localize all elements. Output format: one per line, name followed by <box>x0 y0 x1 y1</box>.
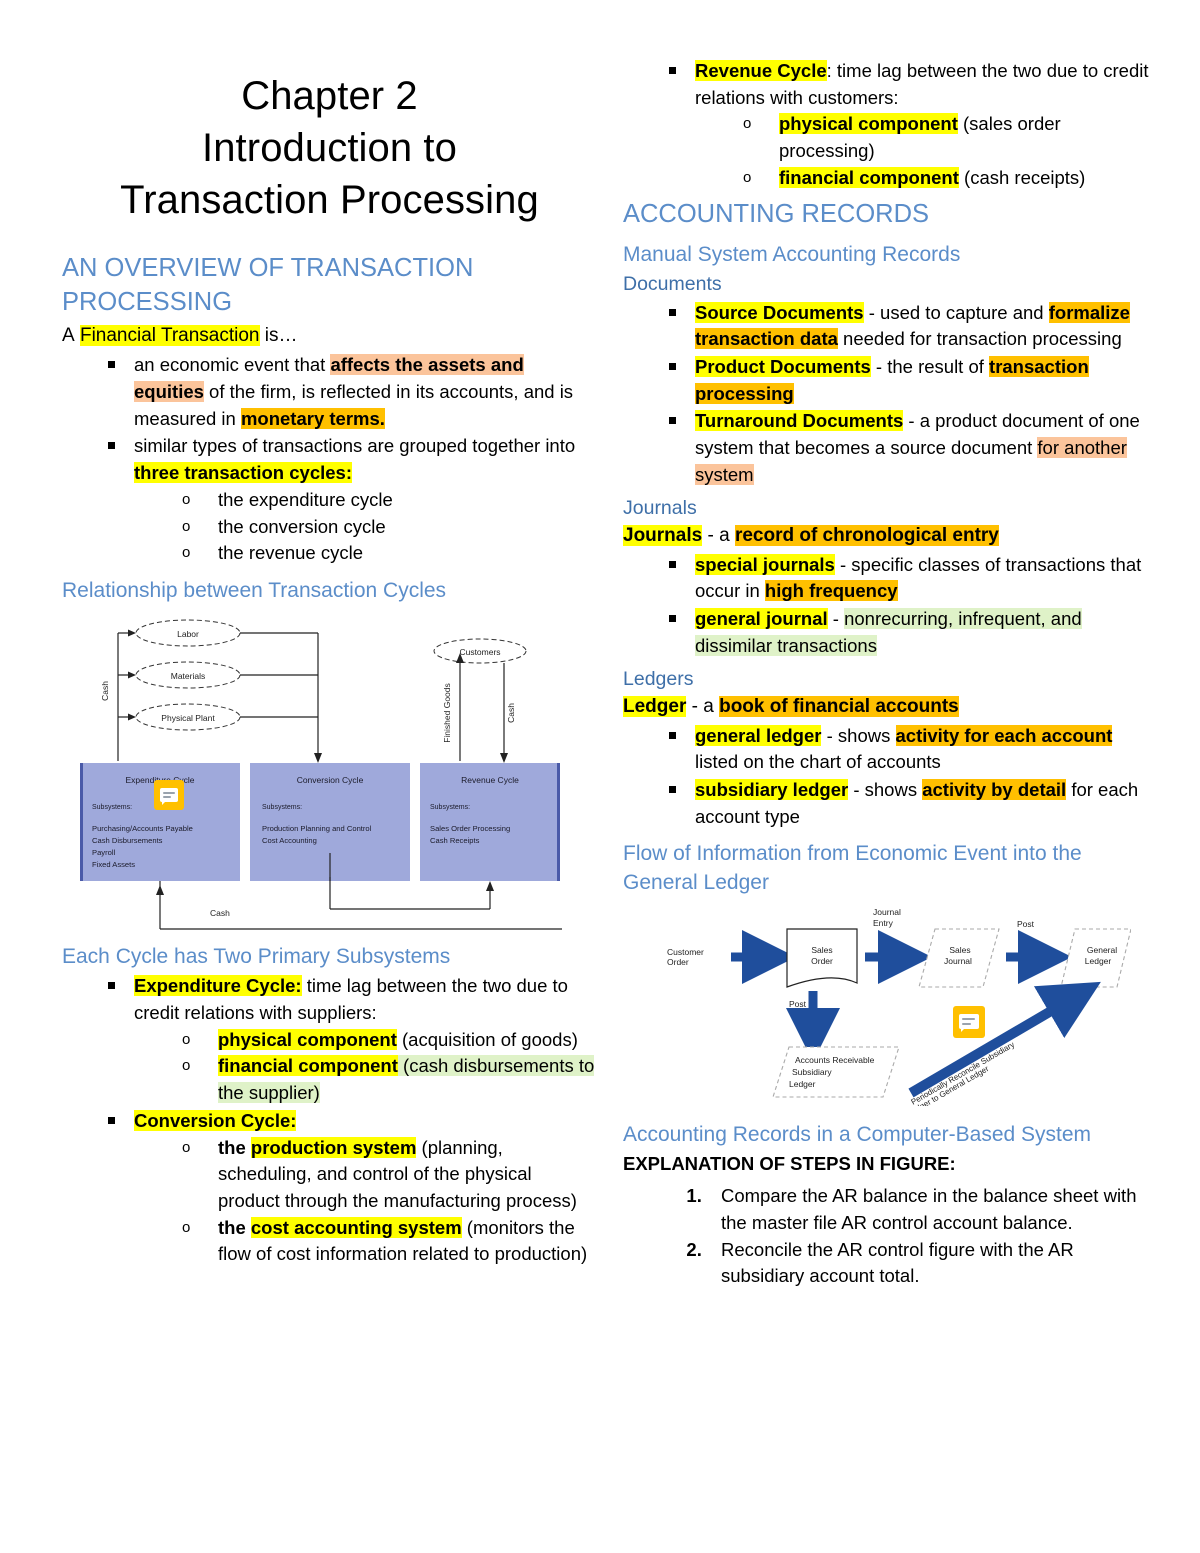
journals-definition: Journals - a record of chronological ent… <box>623 523 1158 550</box>
overview-sub-item-1-1: the conversion cycle <box>182 514 597 541</box>
cycle-bullet-list: Expenditure Cycle: time lag between the … <box>62 973 597 1268</box>
journal-item-0-run-0: special journals <box>695 554 835 575</box>
oval-materials-label: Materials <box>171 671 205 681</box>
title-line-1: Chapter 2 <box>62 70 597 122</box>
heading-manual-system: Manual System Accounting Records <box>623 241 1158 269</box>
heading-explanation-steps: EXPLANATION OF STEPS IN FIGURE: <box>623 1151 1158 1177</box>
overview-bullet-0-run-3: monetary terms. <box>241 408 385 429</box>
ledger-definition-run-0: Ledger <box>623 696 686 717</box>
flow-label-journal-entry-line1: Journal <box>873 907 901 917</box>
cycle-bullet-1: Conversion Cycle:the production system (… <box>104 1108 597 1268</box>
edge-label-cash-right: Cash <box>506 703 516 723</box>
document-item-1: Product Documents - the result of transa… <box>665 354 1158 407</box>
overview-bullet-1: similar types of transactions are groupe… <box>104 433 597 567</box>
box-expenditure-item-3: Fixed Assets <box>92 860 135 869</box>
cycle-sub-item-1-0-run-0: the <box>218 1137 251 1158</box>
journal-item-0-run-2: high frequency <box>765 580 898 601</box>
journal-item-1: general journal - nonrecurring, infreque… <box>665 606 1158 659</box>
comment-bubble-glyph <box>959 1014 979 1029</box>
oval-physical-plant-label: Physical Plant <box>161 713 215 723</box>
box-conversion-title: Conversion Cycle <box>297 775 364 785</box>
box-revenue-title: Revenue Cycle <box>461 775 519 785</box>
documents-list: Source Documents - used to capture and f… <box>623 300 1158 489</box>
flow-node-ar-line2: Subsidiary <box>792 1067 832 1077</box>
cycle-bullet-0: Expenditure Cycle: time lag between the … <box>104 973 597 1107</box>
financial-transaction-definition: A Financial Transaction is… <box>62 323 597 350</box>
edge-label-cash-left: Cash <box>100 681 110 701</box>
journal-item-0: special journals - specific classes of t… <box>665 552 1158 605</box>
box-expenditure-item-1: Cash Disbursements <box>92 836 163 845</box>
heading-flow-of-information: Flow of Information from Economic Event … <box>623 840 1158 896</box>
flow-node-sales-journal-line1: Sales <box>949 945 970 955</box>
flow-label-post-top: Post <box>1017 919 1035 929</box>
flow-label-post-down: Post <box>789 999 807 1009</box>
cycle-sub-list-1: the production system (planning, schedul… <box>134 1135 597 1269</box>
revenue-sub-item-0: physical component (sales order processi… <box>743 111 1158 164</box>
cycle-sub-item-1-1-run-0: the <box>218 1217 251 1238</box>
ledger-item-1-run-2: activity by detail <box>922 779 1066 800</box>
journals-definition-run-1: - a <box>702 525 735 546</box>
flow-node-sales-order-line1: Sales <box>811 945 832 955</box>
flow-label-journal-entry-line2: Entry <box>873 918 894 928</box>
cycle-sub-item-1-1: the cost accounting system (monitors the… <box>182 1215 597 1268</box>
overview-sub-item-1-0: the expenditure cycle <box>182 487 597 514</box>
document-item-0-run-1: - used to capture and <box>864 302 1049 323</box>
flow-node-general-ledger-line1: General <box>1087 945 1117 955</box>
cycle-sub-item-0-0-run-0: physical component <box>218 1029 397 1050</box>
document-item-1-run-0: Product Documents <box>695 356 871 377</box>
transaction-cycles-svg: Labor Materials Physical Plant Customers… <box>70 613 565 933</box>
cycle-sub-list-0: physical component (acquisition of goods… <box>134 1027 597 1107</box>
journal-item-1-run-0: general journal <box>695 608 828 629</box>
explanation-step-0: Compare the AR balance in the balance sh… <box>707 1183 1158 1236</box>
ledger-item-0-run-2: activity for each account <box>896 725 1113 746</box>
document-item-0-run-3: needed for transaction processing <box>838 328 1122 349</box>
revenue-sub-item-0-run-0: physical component <box>779 113 958 134</box>
figure-gl-flow: Customer Order Sales Order Journal Entry <box>661 901 1131 1111</box>
term-financial-transaction: Financial Transaction <box>80 325 260 346</box>
explanation-steps-list: Compare the AR balance in the balance sh… <box>623 1183 1158 1290</box>
revenue-sub-item-1-run-0: financial component <box>779 167 959 188</box>
revenue-cycle-bullet-list: Revenue Cycle: time lag between the two … <box>623 58 1158 192</box>
heading-two-primary-subsystems: Each Cycle has Two Primary Subsystems <box>62 943 597 971</box>
flow-node-customer-order-line1: Customer <box>667 947 704 957</box>
left-column: Chapter 2 Introduction to Transaction Pr… <box>62 56 597 1290</box>
two-column-layout: Chapter 2 Introduction to Transaction Pr… <box>0 0 1200 1290</box>
heading-computer-based-system: Accounting Records in a Computer-Based S… <box>623 1121 1158 1149</box>
overview-bullet-1-run-0: similar types of transactions are groupe… <box>134 435 575 456</box>
heading-overview: AN OVERVIEW OF TRANSACTION PROCESSING <box>62 252 597 319</box>
box-expenditure-item-0: Purchasing/Accounts Payable <box>92 824 193 833</box>
box-revenue-sublabel: Subsystems: <box>430 804 470 811</box>
document-page: Chapter 2 Introduction to Transaction Pr… <box>0 0 1200 1553</box>
box-expenditure-sublabel: Subsystems: <box>92 804 132 811</box>
overview-bullet-0: an economic event that affects the asset… <box>104 352 597 432</box>
journals-list: special journals - specific classes of t… <box>623 552 1158 660</box>
document-title: Chapter 2 Introduction to Transaction Pr… <box>62 70 597 226</box>
box-revenue-item-1: Cash Receipts <box>430 836 480 845</box>
comment-icon[interactable] <box>154 780 184 810</box>
cycle-sub-item-1-1-run-1: cost accounting system <box>251 1217 462 1238</box>
ledger-item-1-run-1: - shows <box>848 779 922 800</box>
box-conversion-item-0: Production Planning and Control <box>262 824 372 833</box>
cycle-sub-item-0-0-run-1: (acquisition of goods) <box>397 1029 578 1050</box>
overview-bullet-0-run-0: an economic event that <box>134 354 330 375</box>
cycle-sub-item-0-0: physical component (acquisition of goods… <box>182 1027 597 1054</box>
revenue-sub-item-1-run-1: (cash receipts) <box>959 167 1085 188</box>
cycle-sub-item-0-1: financial component (cash disbursements … <box>182 1053 597 1106</box>
overview-bullet-list: an economic event that affects the asset… <box>62 352 597 567</box>
heading-journals: Journals <box>623 495 1158 521</box>
document-item-2: Turnaround Documents - a product documen… <box>665 408 1158 488</box>
revenue-bullet-run-0: Revenue Cycle <box>695 60 827 81</box>
comment-icon[interactable] <box>953 1006 985 1038</box>
lead-is: is… <box>265 325 298 346</box>
ledger-item-0-run-0: general ledger <box>695 725 821 746</box>
overview-bullet-1-run-1: three transaction cycles: <box>134 462 352 483</box>
flow-label-reconcile-line1: Periodically Reconcile Subsidiary <box>910 1040 1017 1106</box>
ledgers-list: general ledger - shows activity for each… <box>623 723 1158 831</box>
overview-sub-list-1: the expenditure cyclethe conversion cycl… <box>134 487 597 567</box>
ledger-definition: Ledger - a book of financial accounts <box>623 694 1158 721</box>
box-conversion-sublabel: Subsystems: <box>262 804 302 811</box>
revenue-bullet: Revenue Cycle: time lag between the two … <box>665 58 1158 192</box>
ledger-definition-run-1: - a <box>686 696 719 717</box>
journals-definition-run-2: record of chronological entry <box>735 525 999 546</box>
flow-node-sales-order-line2: Order <box>811 956 833 966</box>
box-revenue-item-0: Sales Order Processing <box>430 824 510 833</box>
cycle-sub-item-0-1-run-0: financial component <box>218 1055 398 1076</box>
oval-customers-label: Customers <box>459 647 500 657</box>
heading-relationship-cycles: Relationship between Transaction Cycles <box>62 577 597 605</box>
gl-flow-svg: Customer Order Sales Order Journal Entry <box>661 901 1131 1106</box>
title-line-3: Transaction Processing <box>62 174 597 226</box>
heading-documents: Documents <box>623 271 1158 297</box>
cycle-sub-item-1-0: the production system (planning, schedul… <box>182 1135 597 1215</box>
box-expenditure-item-2: Payroll <box>92 848 116 857</box>
right-column: Revenue Cycle: time lag between the two … <box>623 56 1158 1290</box>
edge-label-finished-goods: Finished Goods <box>442 683 452 743</box>
ledger-item-1: subsidiary ledger - shows activity by de… <box>665 777 1158 830</box>
document-item-2-run-0: Turnaround Documents <box>695 410 903 431</box>
overview-sub-item-1-2: the revenue cycle <box>182 540 597 567</box>
ledger-item-0-run-1: - shows <box>821 725 895 746</box>
flow-arrow-reconcile <box>911 997 1075 1093</box>
lead-a: A <box>62 325 75 346</box>
comment-bubble-glyph <box>160 788 179 802</box>
figure-transaction-cycles: Labor Materials Physical Plant Customers… <box>70 613 565 933</box>
flow-node-ar-line3: Ledger <box>789 1079 816 1089</box>
document-item-1-run-1: - the result of <box>871 356 989 377</box>
flow-node-customer-order-line2: Order <box>667 957 689 967</box>
explanation-step-1: Reconcile the AR control figure with the… <box>707 1237 1158 1290</box>
edge-label-cash-bottom: Cash <box>210 908 230 918</box>
heading-accounting-records: ACCOUNTING RECORDS <box>623 198 1158 232</box>
cycle-bullet-1-run-0: Conversion Cycle: <box>134 1110 296 1131</box>
journal-item-1-run-1: - <box>828 608 844 629</box>
revenue-sub-list: physical component (sales order processi… <box>695 111 1158 191</box>
heading-ledgers: Ledgers <box>623 666 1158 692</box>
ledger-item-0: general ledger - shows activity for each… <box>665 723 1158 776</box>
ledger-definition-run-2: book of financial accounts <box>719 696 959 717</box>
revenue-sub-item-1: financial component (cash receipts) <box>743 165 1158 192</box>
title-line-2: Introduction to <box>62 122 597 174</box>
document-item-0: Source Documents - used to capture and f… <box>665 300 1158 353</box>
journals-definition-run-0: Journals <box>623 525 702 546</box>
flow-node-general-ledger-line2: Ledger <box>1085 956 1112 966</box>
flow-node-sales-journal-line2: Journal <box>944 956 972 966</box>
flow-node-ar-line1: Accounts Receivable <box>795 1055 875 1065</box>
ledger-item-1-run-0: subsidiary ledger <box>695 779 848 800</box>
cycle-bullet-0-run-0: Expenditure Cycle: <box>134 975 302 996</box>
cycle-sub-item-1-0-run-1: production system <box>251 1137 417 1158</box>
document-item-0-run-0: Source Documents <box>695 302 864 323</box>
oval-labor-label: Labor <box>177 629 199 639</box>
box-conversion-item-1: Cost Accounting <box>262 836 317 845</box>
ledger-item-0-run-3: listed on the chart of accounts <box>695 751 941 772</box>
